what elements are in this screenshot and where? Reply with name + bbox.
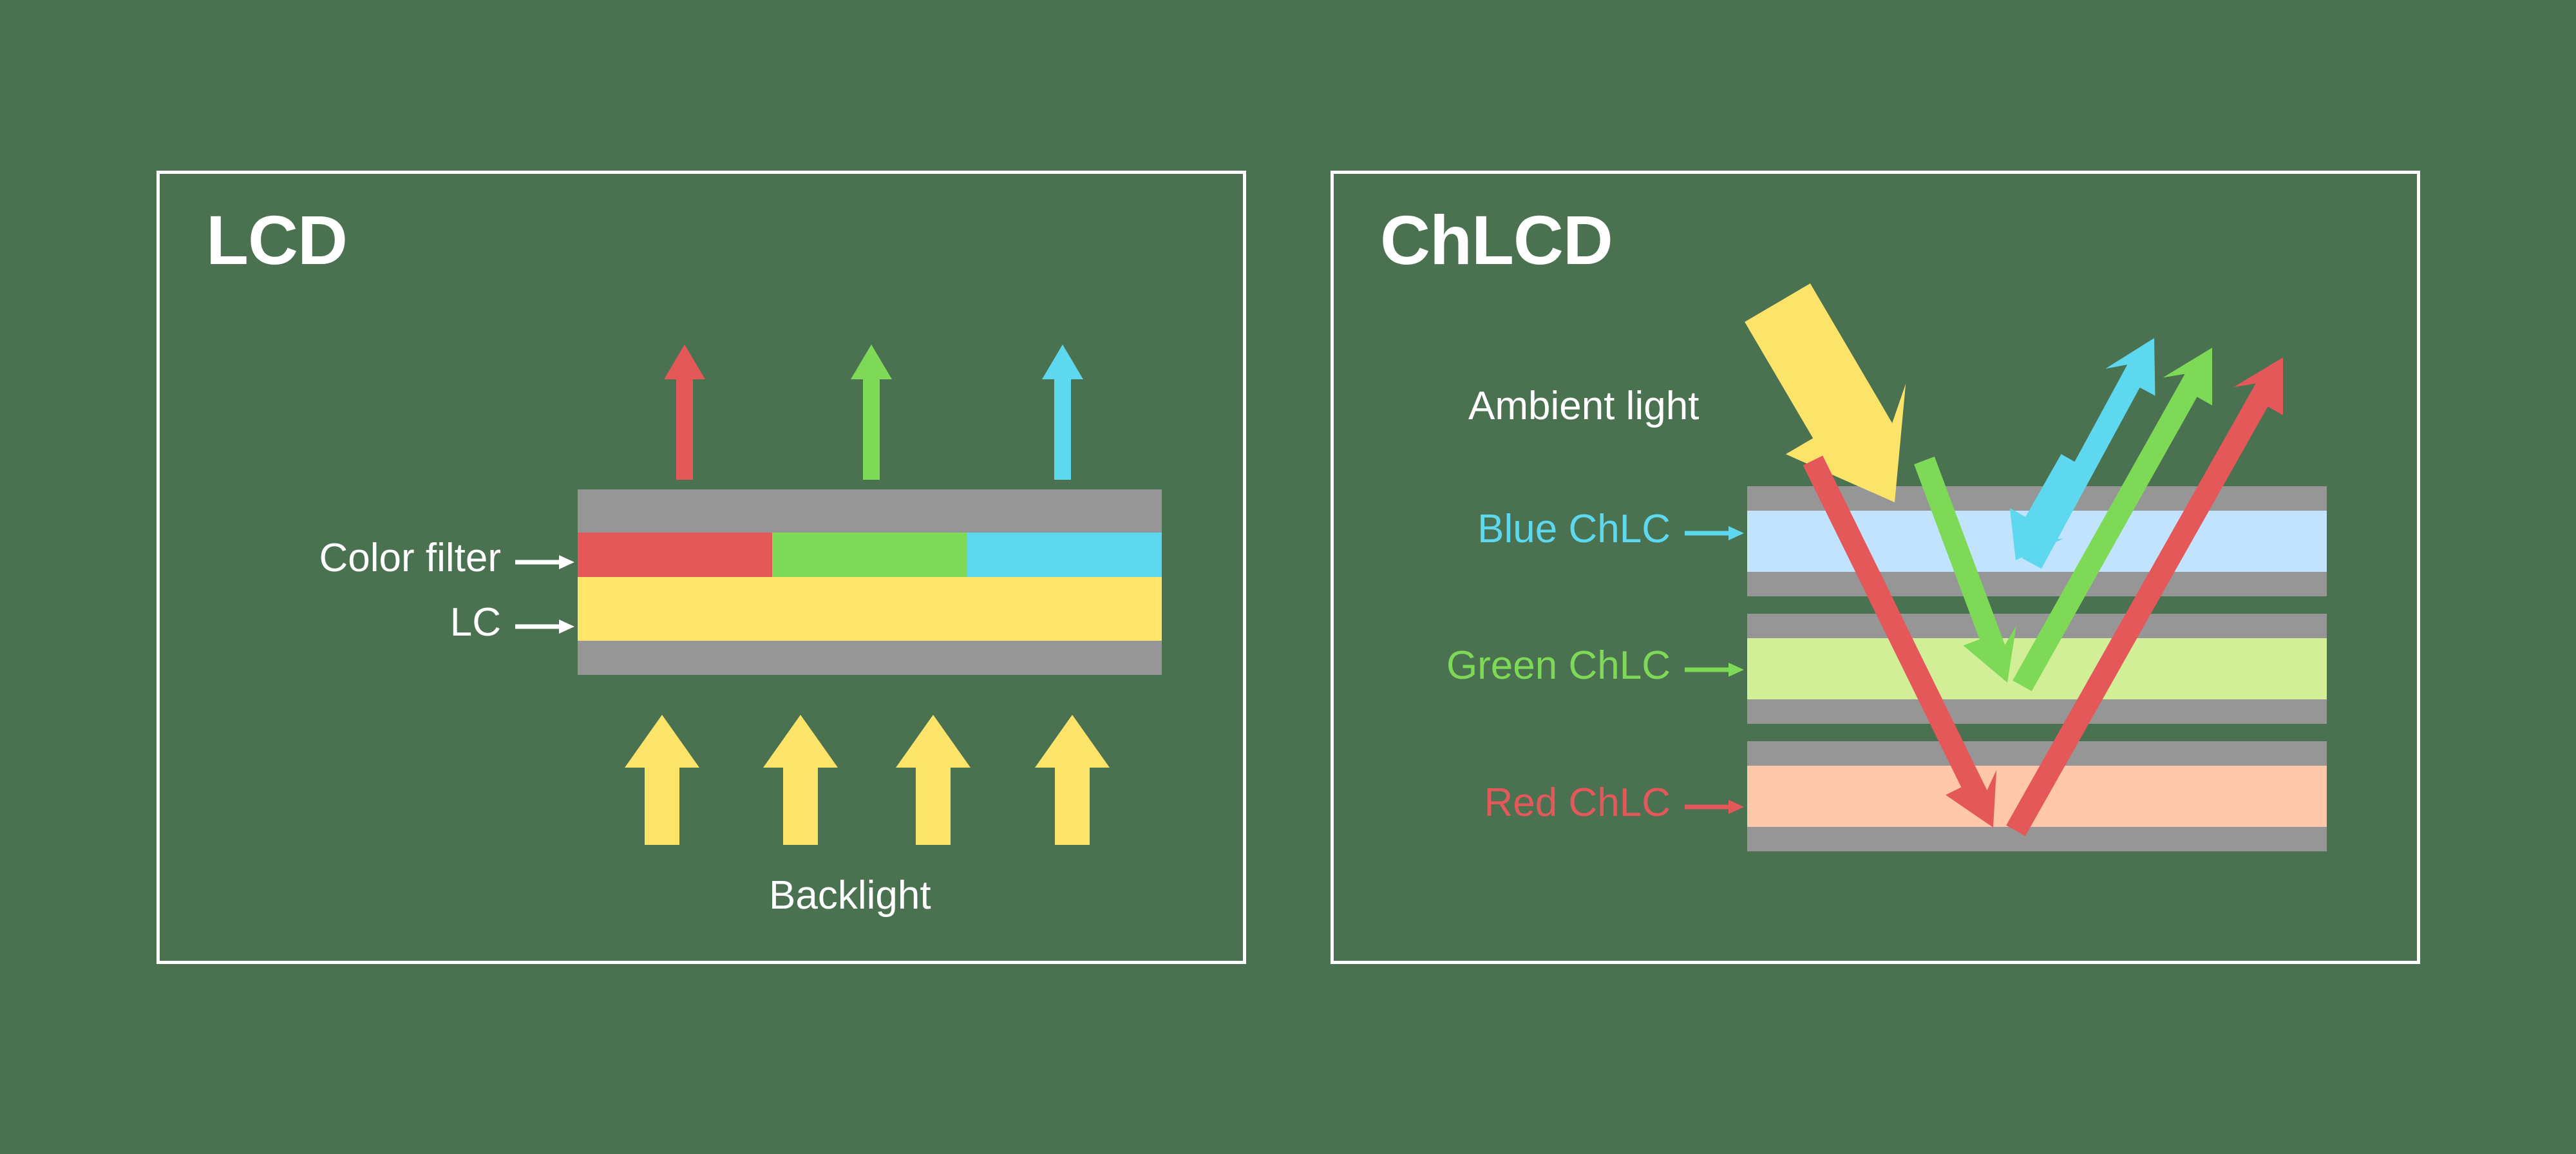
lcd-top-electrode	[578, 489, 1162, 533]
right-arrow-icon	[1685, 643, 1744, 689]
chlcd-red-gray-bottom	[1747, 827, 2327, 851]
chlcd-blue-core	[1747, 511, 2327, 572]
lcd-green-filter-segment	[772, 533, 967, 577]
chlcd-blue-gray-bottom	[1747, 572, 2327, 596]
lcd-layer-stack	[578, 489, 1162, 675]
chlcd-red-gray-top	[1747, 741, 2327, 766]
lcd-blue-filter-segment	[967, 533, 1162, 577]
right-arrow-icon	[515, 536, 574, 582]
chlcd-green-gray-bottom	[1747, 699, 2327, 724]
lcd-liquid-crystal-layer	[578, 577, 1162, 641]
right-arrow-icon	[515, 600, 574, 646]
lcd-red-filter-segment	[578, 533, 772, 577]
chlcd-red-core	[1747, 766, 2327, 827]
chlcd-gap-1	[1747, 596, 2327, 614]
label-blue-chlc-text: Blue ChLC	[1477, 509, 1671, 549]
right-arrow-icon	[1685, 507, 1744, 553]
chlcd-layer-stack	[1747, 486, 2327, 851]
ambient-light-label: Ambient light	[1468, 383, 1699, 429]
label-red-chlc-text: Red ChLC	[1484, 783, 1671, 823]
lcd-color-filter	[578, 533, 1162, 577]
right-arrow-icon	[1685, 780, 1744, 826]
chlcd-panel-title: ChLCD	[1380, 200, 1613, 280]
label-liquid-crystal: LC	[245, 602, 574, 643]
label-red-chlc: Red ChLC	[1416, 782, 1744, 824]
chlcd-blue-gray-top	[1747, 486, 2327, 511]
chlcd-green-core	[1747, 638, 2327, 699]
chlcd-green-group	[1747, 614, 2327, 724]
label-liquid-crystal-text: LC	[450, 603, 501, 643]
diagram-canvas: LCD Color filter LC Backlight	[0, 0, 2576, 1154]
lcd-panel-title: LCD	[206, 200, 347, 280]
label-color-filter: Color filter	[245, 538, 574, 579]
chlcd-green-gray-top	[1747, 614, 2327, 638]
label-color-filter-text: Color filter	[319, 538, 501, 578]
backlight-label: Backlight	[769, 873, 931, 918]
lcd-bottom-electrode	[578, 641, 1162, 675]
chlcd-blue-group	[1747, 486, 2327, 596]
label-green-chlc: Green ChLC	[1391, 645, 1744, 686]
chlcd-red-group	[1747, 741, 2327, 851]
chlcd-gap-2	[1747, 724, 2327, 741]
label-blue-chlc: Blue ChLC	[1416, 509, 1744, 550]
label-green-chlc-text: Green ChLC	[1446, 646, 1671, 686]
